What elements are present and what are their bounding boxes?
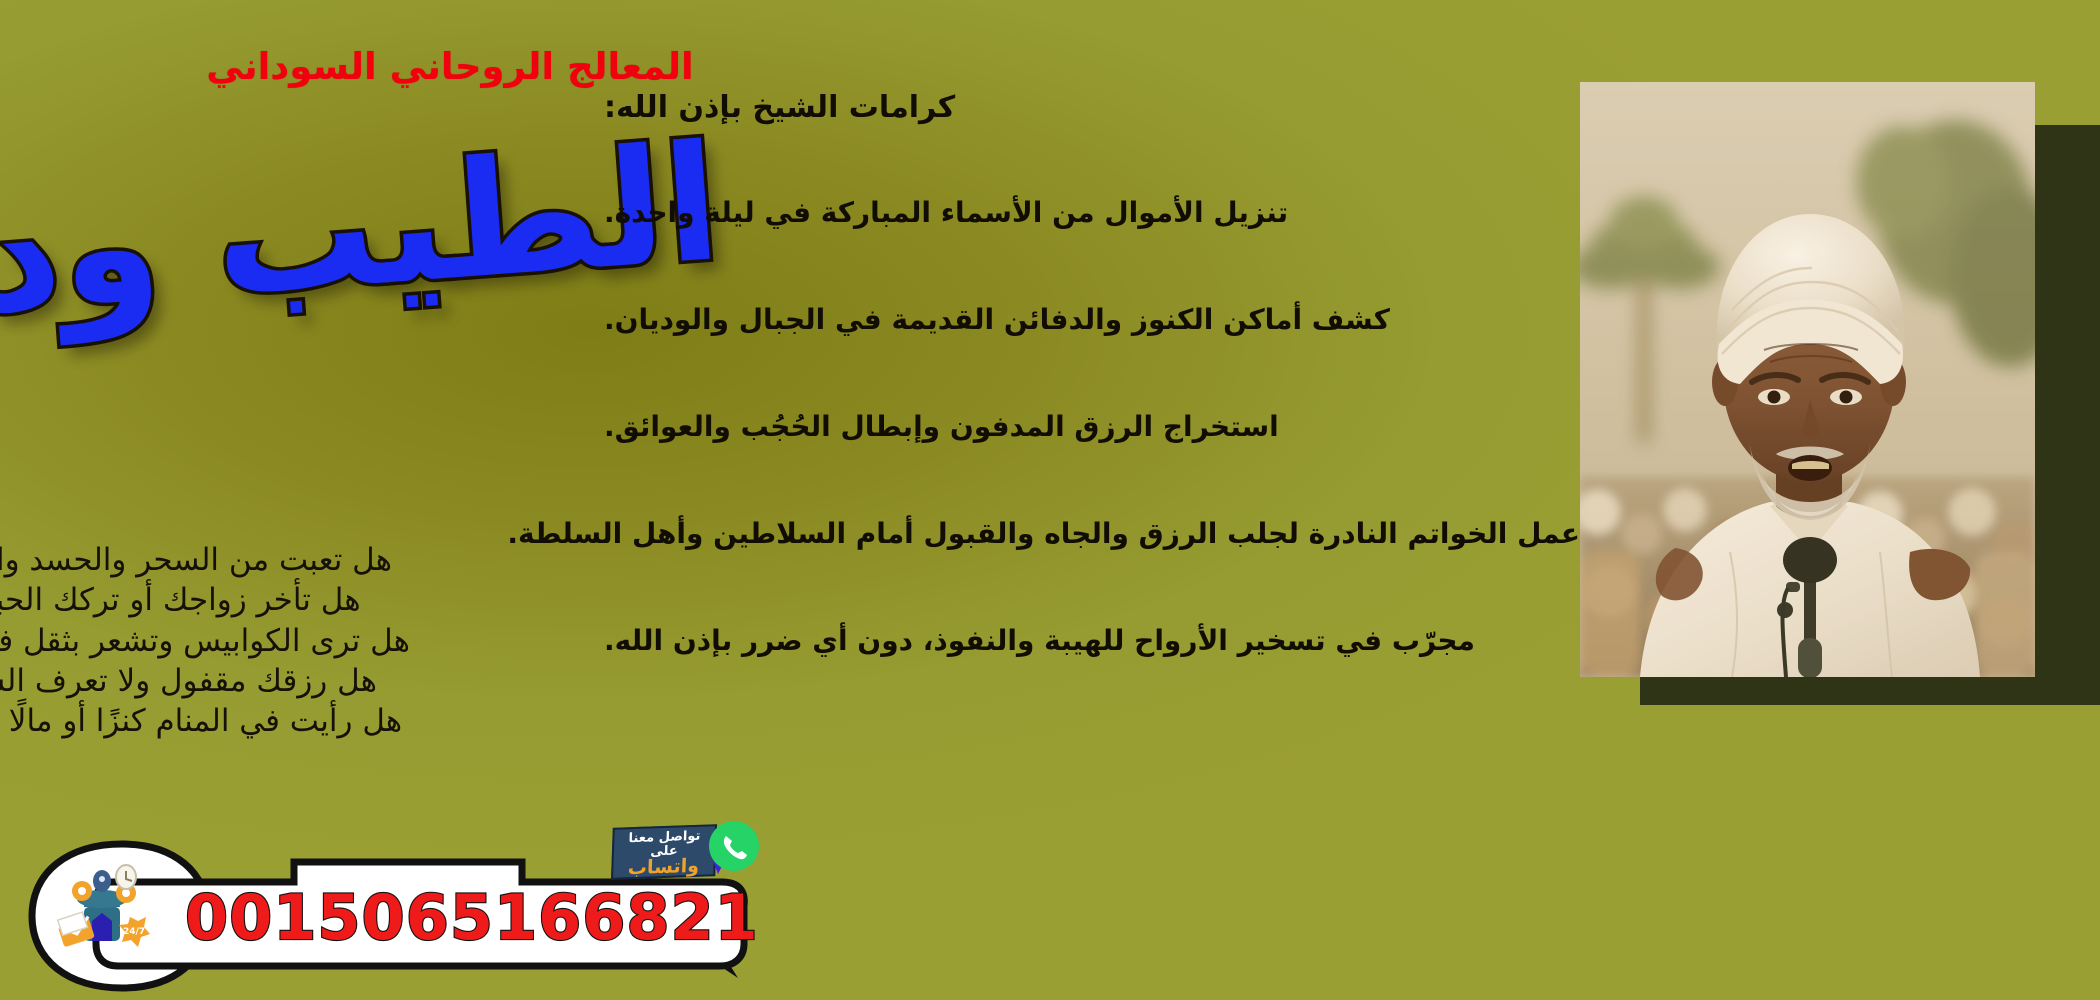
question-line: هل رزقك مقفول ولا تعرف السبب؟: [0, 661, 410, 701]
service-item: تنزيل الأموال من الأسماء المباركة في ليل…: [600, 195, 1580, 230]
service-item: كشف أماكن الكنوز والدفائن القديمة في الج…: [600, 302, 1580, 337]
question-line: هل رأيت في المنام كنزًا أو مالًا مجهولًا…: [0, 701, 410, 741]
questions-block: هل تعبت من السحر والحسد والضيق؟ هل تأخر …: [0, 540, 410, 741]
service-item: عمل الخواتم النادرة لجلب الرزق والجاه وا…: [600, 516, 1580, 551]
service-item: مجرّب في تسخير الأرواح للهيبة والنفوذ، د…: [600, 623, 1580, 658]
advertisement-banner: المعالج الروحاني السوداني الطيب ود النور…: [0, 0, 2100, 1000]
question-line: هل تأخر زواجك أو تركك الحبيب؟: [0, 580, 410, 620]
svg-text:24/7: 24/7: [123, 927, 145, 937]
services-list: كرامات الشيخ بإذن الله: تنزيل الأموال من…: [600, 90, 1580, 658]
service-item: استخراج الرزق المدفون وإبطال الحُجُب وال…: [600, 409, 1580, 444]
sheikh-portrait-photo: [1580, 82, 2035, 677]
question-line: هل تعبت من السحر والحسد والضيق؟: [0, 540, 410, 580]
whatsapp-icon[interactable]: [700, 818, 762, 880]
services-heading: كرامات الشيخ بإذن الله:: [600, 90, 1580, 125]
question-line: هل ترى الكوابيس وتشعر بثقل في حياتك؟: [0, 621, 410, 661]
contact-us-icon-cluster: 24/7: [46, 855, 158, 967]
phone-number[interactable]: 0015065166821: [185, 881, 665, 954]
tagline-text: المعالج الروحاني السوداني: [200, 48, 700, 85]
whatsapp-badge-line2: واتساب: [613, 857, 714, 880]
